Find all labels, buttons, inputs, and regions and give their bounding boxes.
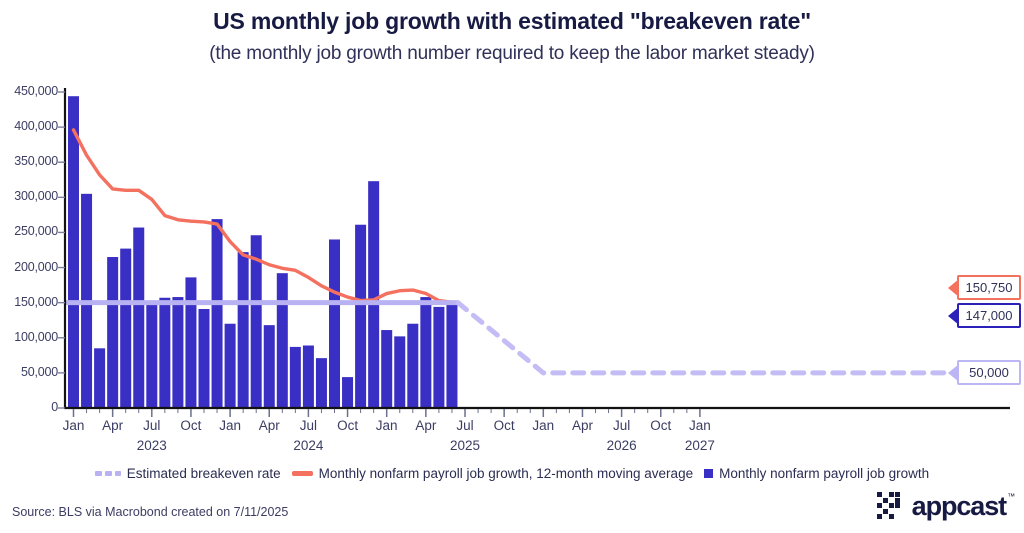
x-axis-label: Apr: [91, 418, 135, 433]
callout-pointer-icon: [948, 364, 959, 382]
y-axis-label: 450,000: [0, 84, 58, 98]
x-axis-label: Jan: [678, 418, 722, 433]
y-axis-label: 250,000: [0, 224, 58, 238]
chart-legend: Estimated breakeven rate Monthly nonfarm…: [0, 466, 1024, 481]
bar: [264, 325, 275, 408]
x-axis-label: Jan: [52, 418, 96, 433]
callout-value: 147,000: [966, 308, 1013, 323]
source-note: Source: BLS via Macrobond created on 7/1…: [12, 505, 288, 519]
callout-pointer-icon: [948, 307, 959, 325]
dashed-line-icon: [95, 471, 121, 476]
x-axis-ticks: [74, 409, 700, 417]
x-axis-label: Apr: [404, 418, 448, 433]
callout-value: 50,000: [969, 365, 1009, 380]
bar: [420, 297, 431, 408]
y-axis-label: 50,000: [0, 365, 58, 379]
bar: [446, 305, 457, 408]
bar: [107, 257, 118, 408]
y-axis-label: 150,000: [0, 295, 58, 309]
legend-label-moving-average: Monthly nonfarm payroll job growth, 12-m…: [319, 466, 693, 481]
x-axis-label: Oct: [326, 418, 370, 433]
chart-plot-area: 050,000100,000150,000200,000250,000300,0…: [0, 0, 1024, 533]
legend-item-breakeven[interactable]: Estimated breakeven rate: [95, 466, 281, 481]
bar-series: [68, 96, 457, 408]
bar: [172, 297, 183, 408]
bar: [342, 377, 353, 408]
y-axis-label: 200,000: [0, 260, 58, 274]
bar: [225, 324, 236, 408]
bar: [159, 298, 170, 408]
x-axis-label: Apr: [561, 418, 605, 433]
legend-item-job-growth[interactable]: Monthly nonfarm payroll job growth: [704, 466, 929, 481]
x-axis-year-label: 2024: [278, 438, 338, 453]
square-icon: [704, 469, 713, 478]
callout-breakeven-value: 50,000: [957, 360, 1021, 385]
bar: [133, 228, 144, 408]
x-axis-label: Jul: [443, 418, 487, 433]
bar: [394, 336, 405, 408]
x-axis-label: Apr: [247, 418, 291, 433]
bar: [238, 252, 249, 408]
chart-svg: [0, 0, 1024, 533]
line-icon: [292, 471, 313, 476]
callout-bar-value: 147,000: [957, 303, 1021, 328]
x-axis-label: Oct: [169, 418, 213, 433]
appcast-logo: appcast™: [877, 492, 1006, 520]
bar: [329, 239, 340, 408]
x-axis-label: Jan: [208, 418, 252, 433]
legend-item-moving-average[interactable]: Monthly nonfarm payroll job growth, 12-m…: [292, 466, 693, 481]
logo-dots-icon: [877, 492, 905, 520]
bar: [146, 303, 157, 408]
bar: [433, 307, 444, 408]
bar: [212, 219, 223, 408]
x-axis-year-label: 2023: [122, 438, 182, 453]
legend-label-job-growth: Monthly nonfarm payroll job growth: [719, 466, 929, 481]
x-axis-label: Jan: [365, 418, 409, 433]
callout-value: 150,750: [966, 280, 1013, 295]
x-axis-label: Jul: [130, 418, 174, 433]
bar: [368, 181, 379, 408]
callout-ma-value: 150,750: [957, 275, 1021, 300]
bar: [94, 348, 105, 408]
bar: [407, 324, 418, 408]
x-axis-year-label: 2026: [592, 438, 652, 453]
y-axis-label: 400,000: [0, 119, 58, 133]
bar: [277, 273, 288, 408]
x-axis-year-label: 2027: [670, 438, 730, 453]
x-axis-label: Oct: [482, 418, 526, 433]
bar: [381, 330, 392, 408]
chart-page: US monthly job growth with estimated "br…: [0, 0, 1024, 533]
x-axis-year-label: 2025: [435, 438, 495, 453]
bar: [316, 358, 327, 408]
callout-pointer-icon: [948, 279, 959, 297]
bar: [355, 225, 366, 408]
bar: [185, 277, 196, 408]
bar: [199, 309, 210, 408]
x-axis-label: Jan: [521, 418, 565, 433]
bar: [120, 249, 131, 408]
breakeven-projection-line: [458, 303, 1008, 373]
x-axis-label: Oct: [639, 418, 683, 433]
y-axis-label: 0: [0, 400, 58, 414]
y-axis-label: 350,000: [0, 154, 58, 168]
y-axis-label: 300,000: [0, 189, 58, 203]
x-axis-label: Jul: [600, 418, 644, 433]
logo-wordmark: appcast™: [912, 493, 1006, 520]
bar: [290, 347, 301, 408]
x-axis-label: Jul: [286, 418, 330, 433]
bar: [303, 346, 314, 409]
y-axis-label: 100,000: [0, 330, 58, 344]
bar: [68, 96, 79, 408]
legend-label-breakeven: Estimated breakeven rate: [127, 466, 281, 481]
